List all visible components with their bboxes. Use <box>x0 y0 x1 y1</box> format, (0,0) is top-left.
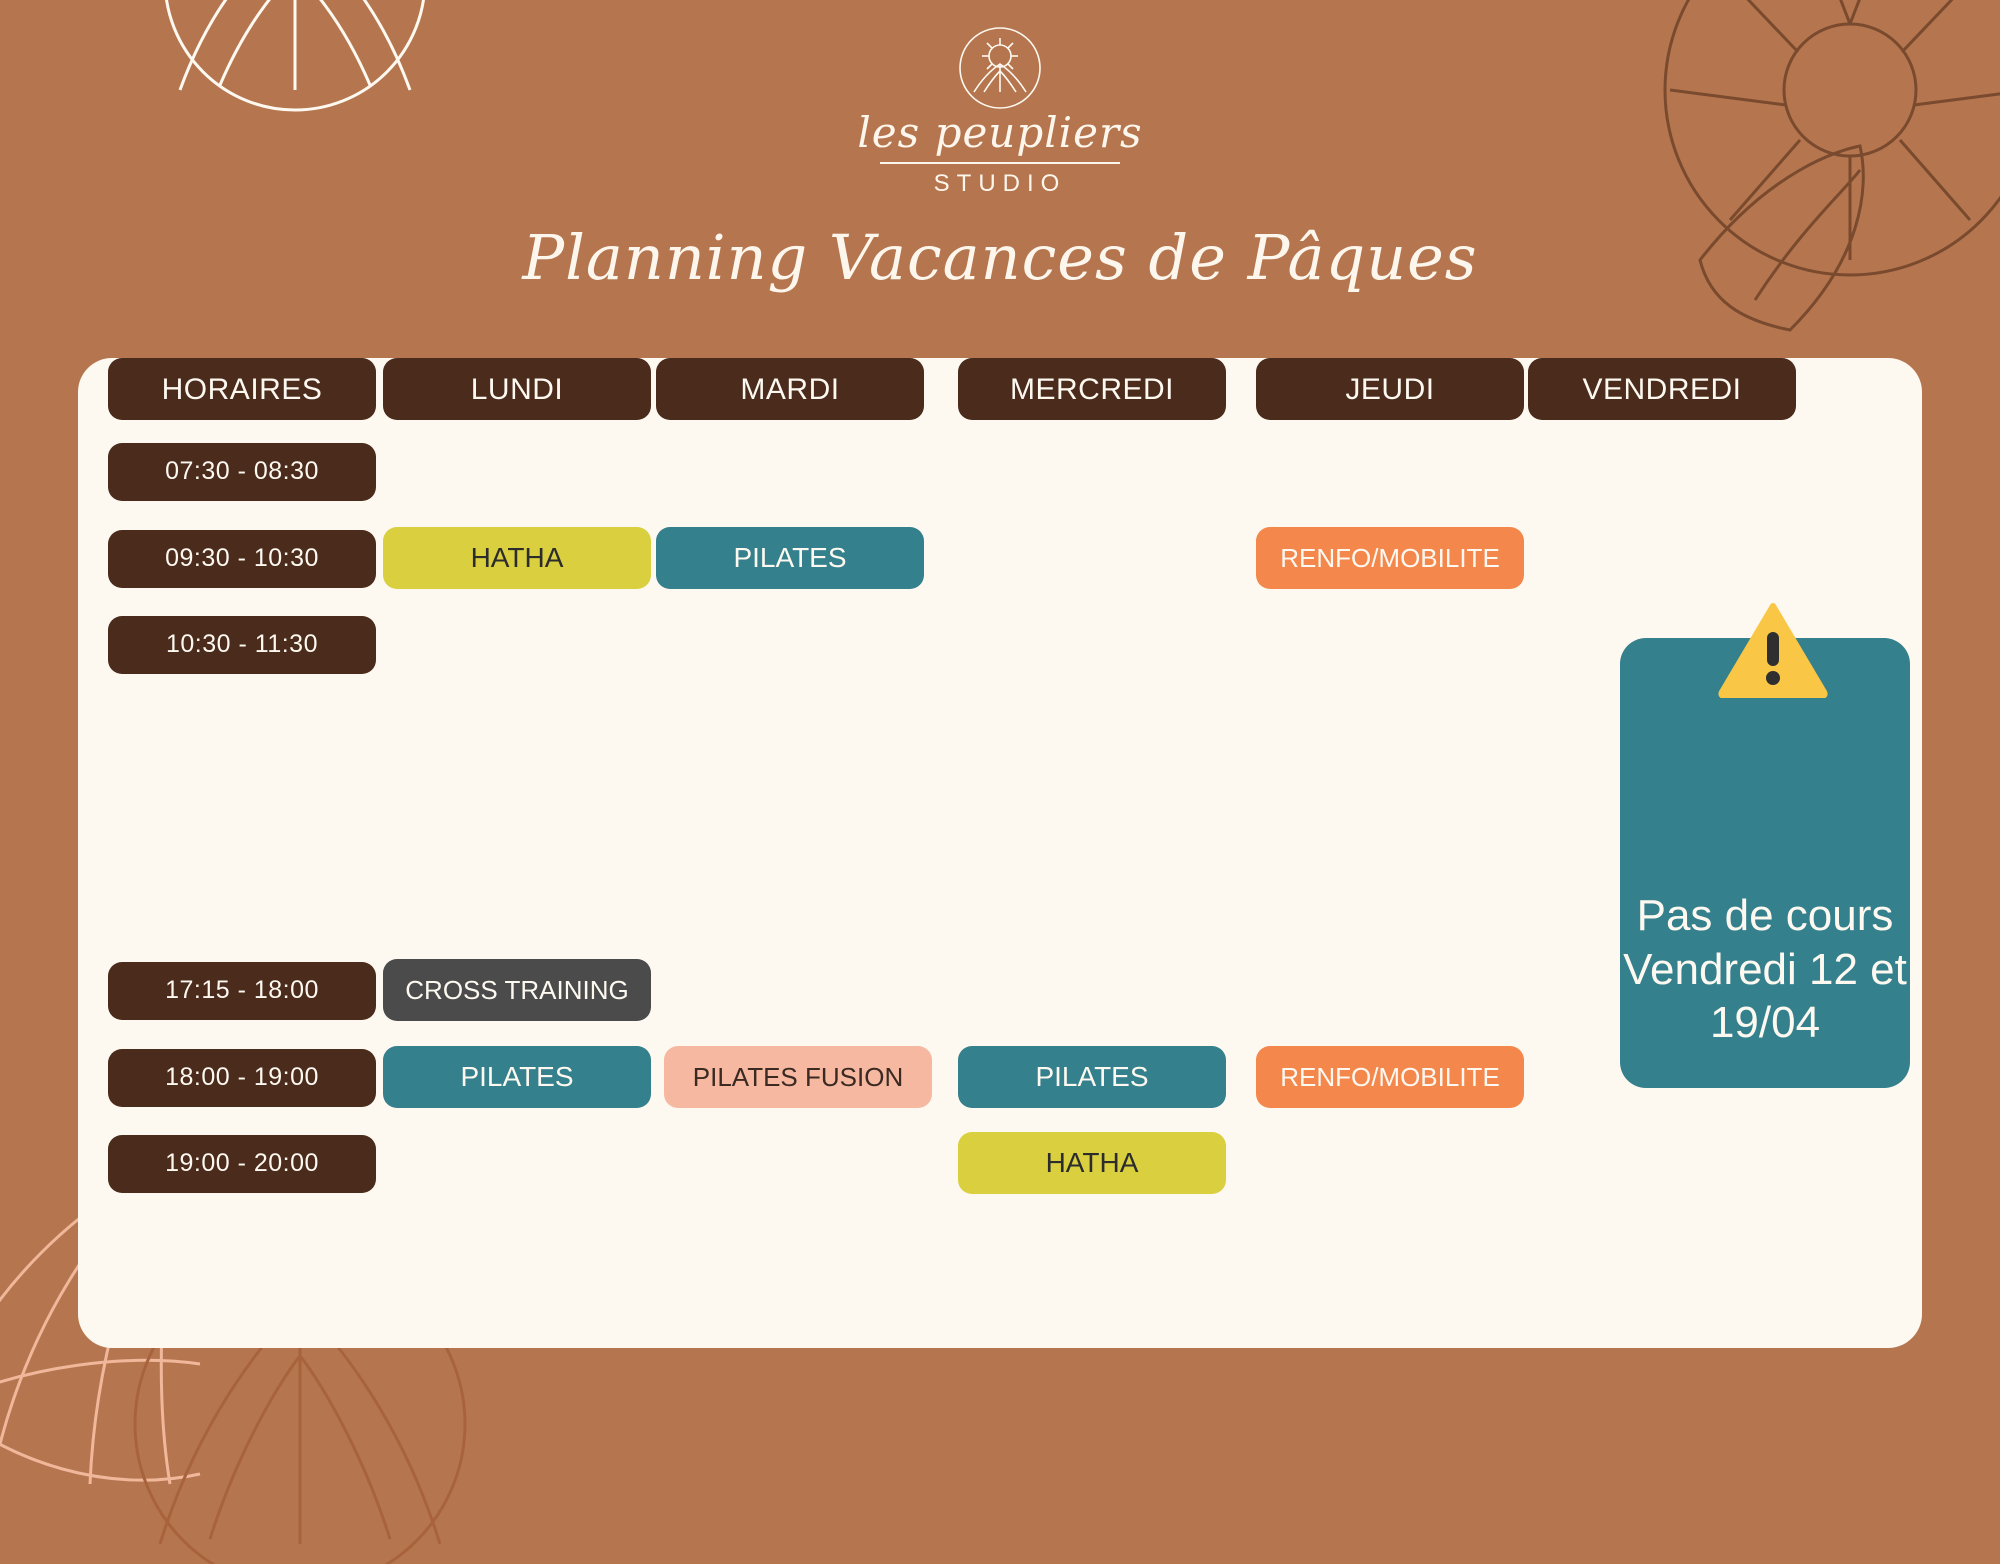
warning-triangle-icon <box>1718 602 1828 698</box>
brand-divider <box>880 162 1120 164</box>
class-pill[interactable]: PILATES FUSION <box>664 1046 932 1108</box>
class-pill[interactable]: PILATES <box>383 1046 651 1108</box>
class-pill[interactable]: PILATES <box>958 1046 1226 1108</box>
page-title: Planning Vacances de Pâques <box>0 224 2000 292</box>
time-slot: 17:15 - 18:00 <box>108 962 376 1020</box>
class-pill[interactable]: HATHA <box>958 1132 1226 1194</box>
column-header-horaires: HORAIRES <box>108 358 376 420</box>
column-header-mardi: MARDI <box>656 358 924 420</box>
sun-leaf-icon <box>958 26 1042 110</box>
time-slot: 07:30 - 08:30 <box>108 443 376 501</box>
time-slot: 18:00 - 19:00 <box>108 1049 376 1107</box>
studio-header: les peupliers STUDIO Planning Vacances d… <box>0 0 2000 292</box>
column-header-vendredi: VENDREDI <box>1528 358 1796 420</box>
time-slot: 10:30 - 11:30 <box>108 616 376 674</box>
class-pill[interactable]: PILATES <box>656 527 924 589</box>
column-header-jeudi: JEUDI <box>1256 358 1524 420</box>
brand-subtitle: STUDIO <box>0 170 2000 198</box>
class-pill[interactable]: RENFO/MOBILITE <box>1256 527 1524 589</box>
notice-card: Pas de cours Vendredi 12 et 19/04 <box>1620 638 1910 1088</box>
column-header-mercredi: MERCREDI <box>958 358 1226 420</box>
time-slot: 19:00 - 20:00 <box>108 1135 376 1193</box>
column-header-lundi: LUNDI <box>383 358 651 420</box>
notice-text: Pas de cours Vendredi 12 et 19/04 <box>1620 889 1910 1050</box>
class-pill[interactable]: HATHA <box>383 527 651 589</box>
class-pill[interactable]: RENFO/MOBILITE <box>1256 1046 1524 1108</box>
brand-name: les peupliers <box>0 112 2000 154</box>
time-slot: 09:30 - 10:30 <box>108 530 376 588</box>
class-pill[interactable]: CROSS TRAINING <box>383 959 651 1021</box>
